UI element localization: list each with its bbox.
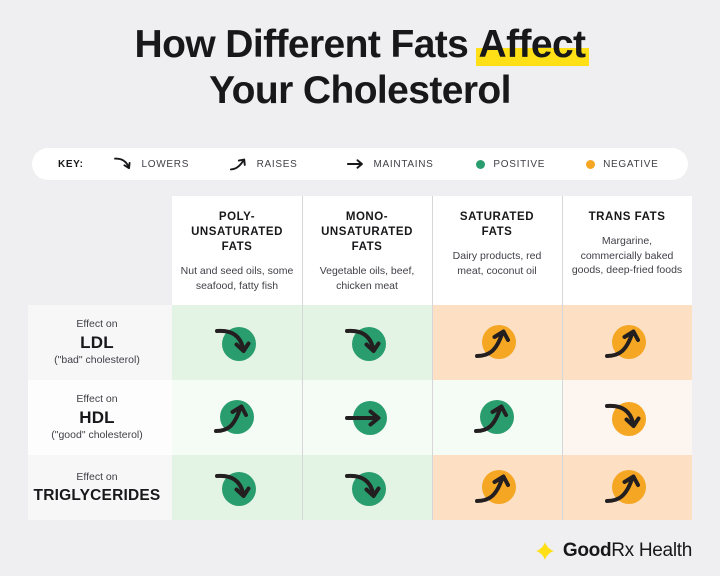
table-corner-blank [28,196,172,305]
legend-bar: KEY: LOWERS RAISES MAINTAINS POSIT [32,148,688,180]
cell-ldl-saturated [432,305,562,380]
row-label-ldl: Effect on LDL ("bad" cholesterol) [28,305,172,380]
arrow-curve-down-icon [207,463,267,513]
column-title-line-3: FATS [180,240,294,255]
legend-item-positive: POSITIVE [470,159,580,170]
column-examples-saturated: Dairy products, red meat, coconut oil [440,249,554,278]
legend-item-lowers: LOWERS [113,155,228,173]
row-prefix: Effect on [76,317,117,332]
comparison-table: POLY- UNSATURATED FATS Nut and seed oils… [28,196,692,520]
arrow-curve-up-icon [467,318,527,368]
effect-badge-lowers-positive [337,463,397,513]
arrow-curve-up-icon [228,155,250,173]
legend-key-label: KEY: [58,159,107,170]
effect-badge-lowers-positive [337,318,397,368]
column-title-line-3: FATS [310,240,424,255]
column-examples-mono: Vegetable oils, beef, chicken meat [310,264,424,293]
legend-item-maintains: MAINTAINS [345,155,471,173]
effect-badge-lowers-positive [207,318,267,368]
legend-label-raises: RAISES [257,159,298,170]
row-prefix: Effect on [76,392,117,407]
effect-badge-lowers-positive [207,463,267,513]
column-examples-poly: Nut and seed oils, some seafood, fatty f… [180,264,294,293]
effect-badge-raises-negative [597,463,657,513]
arrow-curve-down-icon [337,463,397,513]
cell-ldl-poly [172,305,302,380]
legend-item-negative: NEGATIVE [580,159,688,170]
infographic-page: How Different Fats Affect Your Cholester… [0,0,720,576]
column-title-line-2: FATS [440,225,554,240]
title-highlight-text: Affect [479,23,586,66]
column-header-trans: TRANS FATS Margarine, commercially baked… [562,196,692,305]
cell-hdl-mono [302,380,432,455]
arrow-curve-up-icon [597,463,657,513]
cell-hdl-trans [562,380,692,455]
column-title-line-1: POLY- [180,210,294,225]
cell-ldl-trans [562,305,692,380]
row-prefix: Effect on [76,470,117,485]
footer-brand: GoodRx Health [535,540,692,562]
effect-badge-lowers-negative [597,393,657,443]
row-note: ("bad" cholesterol) [54,353,140,368]
brand-text: GoodRx Health [563,540,692,562]
page-title: How Different Fats Affect Your Cholester… [0,0,720,114]
legend-label-negative: NEGATIVE [603,159,658,170]
effect-badge-raises-negative [467,463,527,513]
arrow-curve-down-icon [207,318,267,368]
column-examples-trans: Margarine, commercially baked goods, dee… [570,234,684,278]
arrow-straight-right-icon [345,155,367,173]
arrow-straight-right-icon [337,393,397,443]
title-text-plain: How Different Fats [135,23,479,66]
row-name: HDL [79,407,115,428]
column-title-line-1: SATURATED [440,210,554,225]
title-line-2: Your Cholesterol [0,68,720,114]
cell-triglycerides-saturated [432,455,562,520]
arrow-curve-up-icon [467,393,527,443]
arrow-curve-down-icon [597,393,657,443]
effect-badge-maintains-positive [337,393,397,443]
arrow-curve-up-icon [207,393,267,443]
arrow-curve-down-icon [113,155,135,173]
row-label-hdl: Effect on HDL ("good" cholesterol) [28,380,172,455]
title-line-1: How Different Fats Affect [0,22,720,68]
effect-badge-raises-positive [207,393,267,443]
effect-badge-raises-positive [467,393,527,443]
column-header-poly: POLY- UNSATURATED FATS Nut and seed oils… [172,196,302,305]
column-header-saturated: SATURATED FATS Dairy products, red meat,… [432,196,562,305]
effect-badge-raises-negative [597,318,657,368]
column-title-line-2: UNSATURATED [310,225,424,240]
title-highlight: Affect [479,22,586,68]
effect-badge-raises-negative [467,318,527,368]
legend-label-positive: POSITIVE [493,159,545,170]
legend-item-raises: RAISES [228,155,345,173]
column-title-line-1: TRANS FATS [570,210,684,225]
row-name: TRIGLYCERIDES [34,485,161,506]
row-name: LDL [80,332,114,353]
green-dot-icon [476,160,485,169]
legend-label-maintains: MAINTAINS [374,159,434,170]
row-note: ("good" cholesterol) [51,428,143,443]
arrow-curve-up-icon [467,463,527,513]
orange-dot-icon [586,160,595,169]
arrow-curve-up-icon [597,318,657,368]
column-title-line-1: MONO- [310,210,424,225]
arrow-curve-down-icon [337,318,397,368]
cell-hdl-saturated [432,380,562,455]
column-header-mono: MONO- UNSATURATED FATS Vegetable oils, b… [302,196,432,305]
goodrx-plus-icon [535,541,555,561]
brand-bold: Good [563,540,611,561]
cell-triglycerides-trans [562,455,692,520]
row-label-triglycerides: Effect on TRIGLYCERIDES [28,455,172,520]
cell-ldl-mono [302,305,432,380]
cell-hdl-poly [172,380,302,455]
brand-light: Rx Health [611,540,692,561]
column-title-line-2: UNSATURATED [180,225,294,240]
cell-triglycerides-mono [302,455,432,520]
cell-triglycerides-poly [172,455,302,520]
legend-label-lowers: LOWERS [142,159,190,170]
